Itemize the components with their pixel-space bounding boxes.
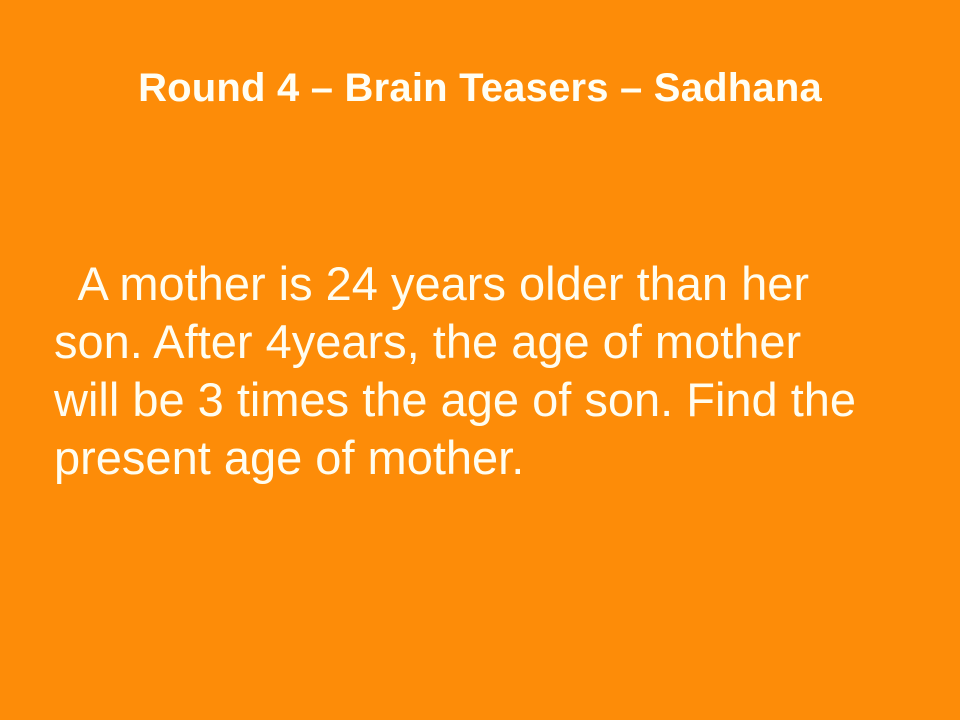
slide-canvas: Round 4 – Brain Teasers – Sadhana A moth… — [0, 0, 960, 720]
slide-body-text: A mother is 24 years older than her son.… — [54, 255, 906, 487]
body-line: will be 3 times the age of son. Find the — [54, 371, 906, 429]
body-line: son. After 4years, the age of mother — [54, 313, 906, 371]
body-line: A mother is 24 years older than her — [54, 255, 906, 313]
body-line: present age of mother. — [54, 429, 906, 487]
page-title: Round 4 – Brain Teasers – Sadhana — [0, 64, 960, 112]
